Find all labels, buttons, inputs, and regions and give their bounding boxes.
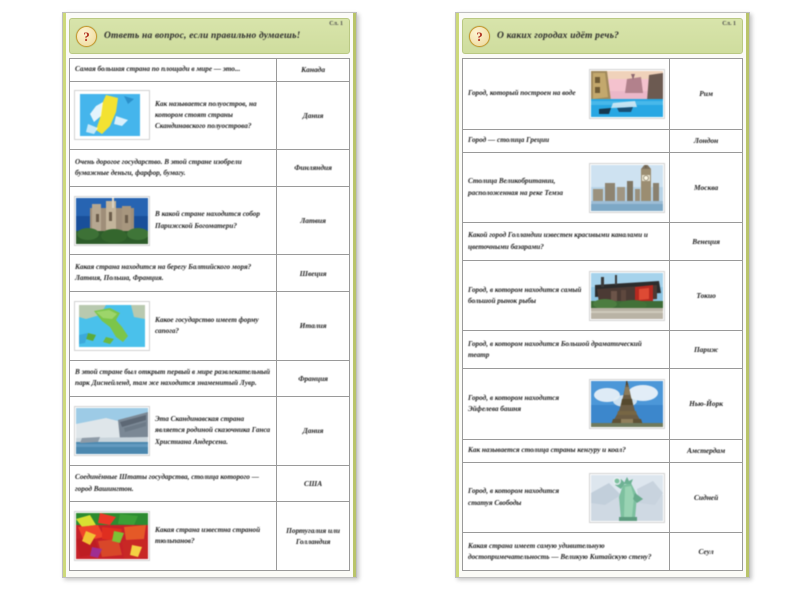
opera-house-photo-thumbnail — [75, 407, 149, 455]
table-row: Какая страна имеет самую удивительную до… — [463, 533, 743, 571]
question-row-content: Эта Скандинавская страна является родино… — [75, 407, 271, 455]
answer-cell: Венеция — [670, 223, 743, 261]
question-text: В какой стране находится собор Парижской… — [155, 209, 271, 231]
question-cell: Город, в котором находится самый большой… — [463, 260, 670, 331]
question-text: Как называется полуостров, на котором ст… — [155, 99, 271, 132]
question-table: Самая большая страна по площади в мире —… — [69, 58, 350, 571]
answer-cell: Дания — [277, 81, 350, 150]
question-cell: Город, в котором находится Эйфелева башн… — [463, 369, 670, 440]
question-text: Самая большая страна по площади в мире —… — [75, 64, 271, 75]
slide-header: ?О каких городах идёт речь?Сл. 1 — [462, 18, 743, 54]
question-row-content: Какая страна находится на берегу Балтийс… — [75, 262, 271, 284]
slide-title: О каких городах идёт речь? — [497, 31, 619, 41]
answer-cell: США — [277, 465, 350, 502]
table-row: Какая страна находится на берегу Балтийс… — [70, 255, 350, 292]
answer-cell: Париж — [670, 331, 743, 369]
slide-number: Сл. 1 — [722, 21, 736, 27]
question-cell: Какой город Голландии известен красивыми… — [463, 223, 670, 261]
answer-cell: Латвия — [277, 186, 350, 255]
question-row-content: Какая страна имеет самую удивительную до… — [468, 541, 664, 563]
question-text: Какое государство имеет форму сапога? — [155, 315, 271, 337]
question-text: Очень дорогое государство. В этой стране… — [75, 157, 271, 179]
question-text: Город — столица Греции — [468, 135, 664, 146]
table-row: Город, в котором находится Большой драма… — [463, 331, 743, 369]
question-cell: Соединённые Штаты государства, столица к… — [70, 465, 277, 502]
table-row: Город — столица ГрецииЛондон — [463, 129, 743, 152]
answer-text: Канада — [282, 64, 344, 75]
answer-cell: Италия — [277, 291, 350, 360]
question-text: Как называется столица страны кенгуру и … — [468, 445, 664, 456]
table-row: Самая большая страна по площади в мире —… — [70, 59, 350, 82]
eiffel-tower-photo-thumbnail — [590, 380, 664, 428]
answer-text: Латвия — [282, 215, 344, 226]
table-row: Очень дорогое государство. В этой стране… — [70, 150, 350, 187]
answer-text: США — [282, 478, 344, 489]
venice-canal-photo-thumbnail — [590, 70, 664, 118]
question-cell: Какая страна имеет самую удивительную до… — [463, 533, 670, 571]
slide-title: Ответь на вопрос, если правильно думаешь… — [104, 31, 301, 41]
question-cell: Как называется столица страны кенгуру и … — [463, 439, 670, 462]
question-text: В этой стране был открыт первый в мире р… — [75, 367, 271, 389]
question-mark-icon: ? — [76, 26, 97, 47]
question-row-content: Самая большая страна по площади в мире —… — [75, 64, 271, 75]
table-row: Какое государство имеет форму сапога?Ита… — [70, 291, 350, 360]
answer-cell: Сеул — [670, 533, 743, 571]
question-row-content: Город, в котором находится Большой драма… — [468, 339, 664, 361]
tulip-festival-photo-thumbnail — [75, 512, 149, 560]
table-row: В какой стране находится собор Парижской… — [70, 186, 350, 255]
table-row: Эта Скандинавская страна является родино… — [70, 397, 350, 466]
question-row-content: Очень дорогое государство. В этой стране… — [75, 157, 271, 179]
answer-cell: Дания — [277, 397, 350, 466]
question-cell: В какой стране находится собор Парижской… — [70, 186, 277, 255]
answer-text: Сеул — [675, 546, 737, 557]
question-text: Эта Скандинавская страна является родино… — [155, 414, 271, 447]
answer-text: Дания — [282, 425, 344, 436]
answer-text: Дания — [282, 110, 344, 121]
question-row-content: Столица Великобритании, расположенная на… — [468, 164, 664, 212]
answer-text: Финляндия — [282, 162, 344, 173]
answer-text: Москва — [675, 182, 737, 193]
slide-cities: ?О каких городах идёт речь?Сл. 1Город, к… — [455, 12, 750, 578]
question-cell: Какая страна известна страной тюльпанов? — [70, 502, 277, 571]
table-row: Город, в котором находится Эйфелева башн… — [463, 369, 743, 440]
table-row: Город, в котором находится самый большой… — [463, 260, 743, 331]
answer-text: Рим — [675, 88, 737, 99]
answer-text: Швеция — [282, 268, 344, 279]
answer-cell: Португалия или Голландия — [277, 502, 350, 571]
question-cell: Город, который построен на воде — [463, 59, 670, 130]
question-text: Город, в котором находится Большой драма… — [468, 339, 664, 361]
question-text: Столица Великобритании, расположенная на… — [468, 176, 584, 198]
cathedral-photo-thumbnail — [75, 197, 149, 245]
answer-text: Италия — [282, 320, 344, 331]
question-row-content: Город, в котором находится статуя Свобод… — [468, 474, 664, 522]
question-row-content: Какой город Голландии известен красивыми… — [468, 230, 664, 252]
table-row: Как называется полуостров, на котором ст… — [70, 81, 350, 150]
table-row: Соединённые Штаты государства, столица к… — [70, 465, 350, 502]
answer-text: Амстердам — [675, 445, 737, 456]
question-cell: Как называется полуостров, на котором ст… — [70, 81, 277, 150]
answer-cell: Нью-Йорк — [670, 369, 743, 440]
question-row-content: Город, который построен на воде — [468, 70, 664, 118]
answer-cell: Амстердам — [670, 439, 743, 462]
answer-cell: Москва — [670, 152, 743, 223]
answer-text: Нью-Йорк — [675, 398, 737, 409]
question-mark-icon: ? — [469, 26, 490, 47]
question-row-content: Город, в котором находится Эйфелева башн… — [468, 380, 664, 428]
question-cell: В этой стране был открыт первый в мире р… — [70, 360, 277, 397]
answer-cell: Лондон — [670, 129, 743, 152]
slide-number: Сл. 1 — [329, 21, 343, 27]
answer-cell: Рим — [670, 59, 743, 130]
table-row: В этой стране был открыт первый в мире р… — [70, 360, 350, 397]
answer-text: Сидней — [675, 492, 737, 503]
scandinavia-map-thumbnail — [75, 91, 149, 139]
tokyo-photo-thumbnail — [590, 272, 664, 320]
answer-cell: Канада — [277, 59, 350, 82]
question-text: Город, который построен на воде — [468, 88, 584, 99]
question-cell: Какое государство имеет форму сапога? — [70, 291, 277, 360]
question-row-content: Соединённые Штаты государства, столица к… — [75, 472, 271, 494]
question-cell: Столица Великобритании, расположенная на… — [463, 152, 670, 223]
question-row-content: Какая страна известна страной тюльпанов? — [75, 512, 271, 560]
question-cell: Город — столица Греции — [463, 129, 670, 152]
table-row: Город, в котором находится статуя Свобод… — [463, 462, 743, 533]
answer-text: Париж — [675, 344, 737, 355]
question-row-content: В этой стране был открыт первый в мире р… — [75, 367, 271, 389]
question-row-content: В какой стране находится собор Парижской… — [75, 197, 271, 245]
statue-of-liberty-photo-thumbnail — [590, 474, 664, 522]
answer-text: Лондон — [675, 135, 737, 146]
slides-stage: ?Ответь на вопрос, если правильно думаеш… — [0, 0, 800, 600]
answer-text: Венеция — [675, 236, 737, 247]
question-row-content: Как называется полуостров, на котором ст… — [75, 91, 271, 139]
question-cell: Город, в котором находится Большой драма… — [463, 331, 670, 369]
answer-text: Португалия или Голландия — [282, 525, 344, 547]
table-row: Столица Великобритании, расположенная на… — [463, 152, 743, 223]
question-text: Какая страна находится на берегу Балтийс… — [75, 262, 271, 284]
answer-cell: Франция — [277, 360, 350, 397]
question-cell: Самая большая страна по площади в мире —… — [70, 59, 277, 82]
answer-cell: Финляндия — [277, 150, 350, 187]
question-text: Какая страна известна страной тюльпанов? — [155, 525, 271, 547]
question-text: Город, в котором находится Эйфелева башн… — [468, 393, 584, 415]
table-row: Город, который построен на воде Рим — [463, 59, 743, 130]
question-text: Город, в котором находится статуя Свобод… — [468, 486, 584, 508]
question-cell: Эта Скандинавская страна является родино… — [70, 397, 277, 466]
question-table: Город, который построен на воде РимГород… — [462, 58, 743, 571]
question-cell: Город, в котором находится статуя Свобод… — [463, 462, 670, 533]
slide-countries: ?Ответь на вопрос, если правильно думаеш… — [62, 12, 357, 578]
big-ben-photo-thumbnail — [590, 164, 664, 212]
table-row: Как называется столица страны кенгуру и … — [463, 439, 743, 462]
table-row: Какая страна известна страной тюльпанов?… — [70, 502, 350, 571]
question-text: Какой город Голландии известен красивыми… — [468, 230, 664, 252]
answer-text: Токио — [675, 290, 737, 301]
answer-text: Франция — [282, 373, 344, 384]
question-cell: Очень дорогое государство. В этой стране… — [70, 150, 277, 187]
question-text: Город, в котором находится самый большой… — [468, 285, 584, 307]
answer-cell: Сидней — [670, 462, 743, 533]
question-row-content: Как называется столица страны кенгуру и … — [468, 445, 664, 456]
answer-cell: Токио — [670, 260, 743, 331]
question-row-content: Какое государство имеет форму сапога? — [75, 302, 271, 350]
answer-cell: Швеция — [277, 255, 350, 292]
italy-map-thumbnail — [75, 302, 149, 350]
table-row: Какой город Голландии известен красивыми… — [463, 223, 743, 261]
question-text: Какая страна имеет самую удивительную до… — [468, 541, 664, 563]
question-row-content: Город — столица Греции — [468, 135, 664, 146]
question-cell: Какая страна находится на берегу Балтийс… — [70, 255, 277, 292]
slide-header: ?Ответь на вопрос, если правильно думаеш… — [69, 18, 350, 54]
question-row-content: Город, в котором находится самый большой… — [468, 272, 664, 320]
question-text: Соединённые Штаты государства, столица к… — [75, 472, 271, 494]
